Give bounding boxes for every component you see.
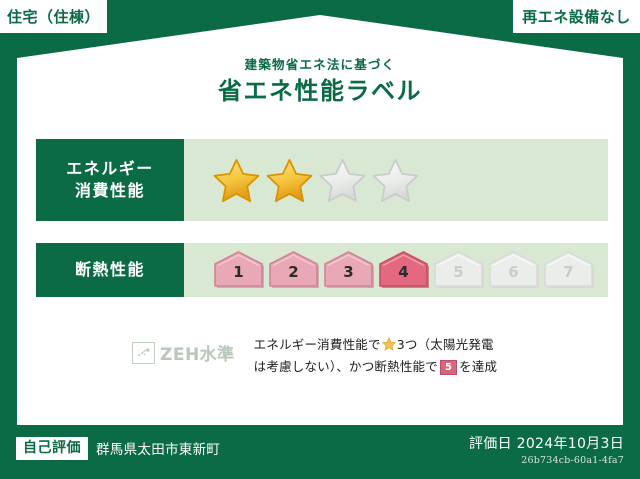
self-evaluation-badge: 自己評価 xyxy=(16,437,88,460)
insulation-level-number: 5 xyxy=(432,265,485,280)
zeh-criteria-description: エネルギー消費性能で3つ（太陽光発電 は考慮しない）、かつ断熱性能で5を達成 xyxy=(254,334,498,377)
label-footer: 自己評価 群馬県太田市東新町 評価日 2024年10月3日 26b734cb-6… xyxy=(0,425,640,479)
insulation-level-7: 7 xyxy=(542,250,595,290)
desc-part1: エネルギー消費性能で xyxy=(254,337,381,352)
insulation-level-4: 4 xyxy=(377,250,430,290)
energy-performance-label: 住宅（住棟） 再エネ設備なし 建築物省エネ法に基づく 省エネ性能ラベル エネルギ… xyxy=(0,0,640,479)
desc-insulation-chip: 5 xyxy=(440,360,457,375)
energy-performance-label-box: エネルギー 消費性能 xyxy=(36,139,184,221)
energy-performance-row: エネルギー 消費性能 xyxy=(36,139,608,221)
energy-label-line1: エネルギー xyxy=(66,158,154,180)
zeh-section: ZEH水準 エネルギー消費性能で3つ（太陽光発電 は考慮しない）、かつ断熱性能で… xyxy=(36,334,608,377)
badge-renewable-equipment: 再エネ設備なし xyxy=(513,0,640,33)
star-empty-icon xyxy=(318,157,367,204)
energy-star-rating xyxy=(184,139,608,221)
insulation-level-number: 1 xyxy=(212,265,265,280)
evaluation-date-value: 2024年10月3日 xyxy=(517,436,624,452)
insulation-level-3: 3 xyxy=(322,250,375,290)
zeh-mark-icon xyxy=(132,342,155,364)
footer-right-group: 評価日 2024年10月3日 26b734cb-60a1-4fa7 xyxy=(469,433,624,466)
evaluation-hash: 26b734cb-60a1-4fa7 xyxy=(469,455,624,466)
energy-label-line2: 消費性能 xyxy=(75,180,145,202)
insulation-level-2: 2 xyxy=(267,250,320,290)
insulation-level-1: 1 xyxy=(212,250,265,290)
footer-left-group: 自己評価 群馬県太田市東新町 xyxy=(16,437,220,460)
insulation-label-text: 断熱性能 xyxy=(75,259,145,281)
desc-part3: を達成 xyxy=(459,359,497,374)
badge-renewable-text: 再エネ設備なし xyxy=(522,6,631,27)
evaluation-date: 評価日 2024年10月3日 xyxy=(469,433,624,453)
insulation-performance-label-box: 断熱性能 xyxy=(36,243,184,297)
title-subtitle: 建築物省エネ法に基づく xyxy=(0,57,640,72)
zeh-mark: ZEH水準 xyxy=(132,340,235,365)
property-address: 群馬県太田市東新町 xyxy=(96,438,220,458)
star-filled-icon xyxy=(212,157,261,204)
insulation-level-number: 4 xyxy=(377,265,430,280)
star-filled-icon xyxy=(265,157,314,204)
label-title-block: 建築物省エネ法に基づく 省エネ性能ラベル xyxy=(0,57,640,106)
insulation-level-scale: 1234567 xyxy=(184,243,608,297)
desc-part2: は考慮しない）、かつ断熱性能で xyxy=(254,359,438,374)
insulation-level-5: 5 xyxy=(432,250,485,290)
star-empty-icon xyxy=(371,157,420,204)
badge-building-type-text: 住宅（住棟） xyxy=(7,6,100,27)
badge-building-type: 住宅（住棟） xyxy=(0,0,107,33)
insulation-level-number: 3 xyxy=(322,265,375,280)
insulation-level-6: 6 xyxy=(487,250,540,290)
insulation-level-number: 7 xyxy=(542,265,595,280)
evaluation-date-label: 評価日 xyxy=(469,436,512,452)
zeh-label: ZEH水準 xyxy=(160,340,235,365)
insulation-level-number: 6 xyxy=(487,265,540,280)
insulation-performance-row: 断熱性能 1234567 xyxy=(36,243,608,297)
page-title: 省エネ性能ラベル xyxy=(0,77,640,106)
inline-star-icon xyxy=(382,337,396,351)
desc-stars: 3つ（太陽光発電 xyxy=(397,337,494,352)
insulation-level-number: 2 xyxy=(267,265,320,280)
